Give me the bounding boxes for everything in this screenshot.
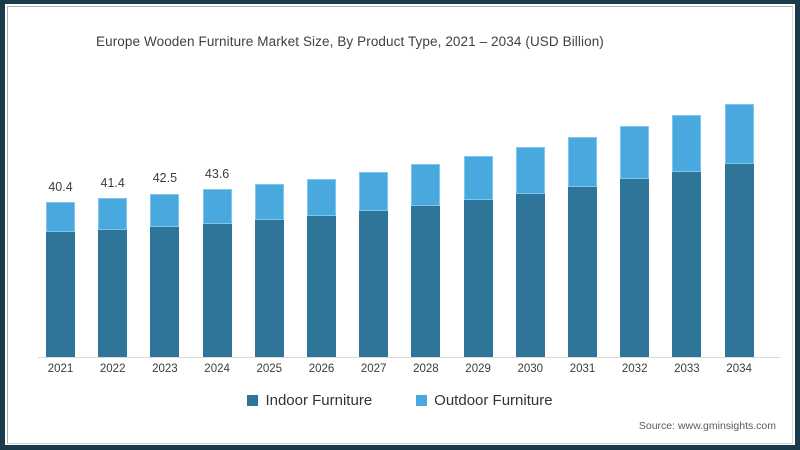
source-note: Source: www.gminsights.com xyxy=(639,420,776,432)
bar-segment-outdoor-2030[interactable] xyxy=(516,147,545,194)
frame-inner-line-bottom xyxy=(7,443,793,444)
x-tick-2031: 2031 xyxy=(553,363,613,375)
legend-item-indoor-furniture[interactable]: Indoor Furniture xyxy=(247,392,372,409)
legend-label-indoor: Indoor Furniture xyxy=(265,392,372,409)
bar-segment-outdoor-2034[interactable] xyxy=(725,104,754,164)
frame-border-right xyxy=(795,0,800,450)
frame-border-bottom xyxy=(0,445,800,450)
bar-value-label-2024: 43.6 xyxy=(187,167,247,181)
legend-swatch-icon-indoor xyxy=(247,395,258,406)
bar-segment-outdoor-2029[interactable] xyxy=(464,156,493,200)
bar-group-2025[interactable] xyxy=(255,184,284,357)
x-tick-2024: 2024 xyxy=(187,363,247,375)
x-tick-2021: 2021 xyxy=(31,363,91,375)
x-tick-2022: 2022 xyxy=(83,363,143,375)
bar-value-label-2023: 42.5 xyxy=(135,171,195,185)
bar-segment-outdoor-2031[interactable] xyxy=(568,137,597,187)
frame-inner-line-right xyxy=(792,6,793,444)
bar-segment-indoor-2026[interactable] xyxy=(307,216,336,357)
bar-segment-indoor-2028[interactable] xyxy=(411,206,440,357)
bar-segment-indoor-2033[interactable] xyxy=(672,172,701,357)
bar-segment-outdoor-2023[interactable] xyxy=(150,194,179,227)
bar-segment-outdoor-2026[interactable] xyxy=(307,179,336,216)
legend-label-outdoor: Outdoor Furniture xyxy=(434,392,552,409)
bar-segment-outdoor-2022[interactable] xyxy=(98,198,127,230)
bar-segment-indoor-2024[interactable] xyxy=(203,224,232,357)
x-tick-2033: 2033 xyxy=(657,363,717,375)
bar-group-2031[interactable] xyxy=(568,137,597,357)
bar-segment-outdoor-2032[interactable] xyxy=(620,126,649,179)
bar-group-2032[interactable] xyxy=(620,126,649,357)
x-tick-2025: 2025 xyxy=(239,363,299,375)
chart-legend: Indoor Furniture Outdoor Furniture xyxy=(0,392,800,409)
bar-value-label-2021: 40.4 xyxy=(31,180,91,194)
bar-group-2030[interactable] xyxy=(516,147,545,357)
legend-item-outdoor-furniture[interactable]: Outdoor Furniture xyxy=(416,392,552,409)
bar-segment-indoor-2025[interactable] xyxy=(255,220,284,357)
bar-segment-indoor-2023[interactable] xyxy=(150,227,179,357)
bar-segment-outdoor-2025[interactable] xyxy=(255,184,284,220)
bar-segment-indoor-2022[interactable] xyxy=(98,230,127,357)
bar-segment-indoor-2029[interactable] xyxy=(464,200,493,357)
frame-border-left xyxy=(0,0,5,450)
bar-segment-outdoor-2028[interactable] xyxy=(411,164,440,206)
bar-value-label-2022: 41.4 xyxy=(83,176,143,190)
bar-segment-indoor-2030[interactable] xyxy=(516,194,545,358)
x-tick-2029: 2029 xyxy=(448,363,508,375)
legend-swatch-icon-outdoor xyxy=(416,395,427,406)
plot-area xyxy=(38,80,778,357)
bar-group-2029[interactable] xyxy=(464,156,493,357)
bar-segment-indoor-2021[interactable] xyxy=(46,232,75,357)
x-axis-line xyxy=(38,357,780,358)
bar-group-2022[interactable] xyxy=(98,198,127,357)
bar-segment-outdoor-2021[interactable] xyxy=(46,202,75,233)
bar-segment-outdoor-2027[interactable] xyxy=(359,172,388,211)
bar-group-2023[interactable] xyxy=(150,194,179,358)
x-tick-2028: 2028 xyxy=(396,363,456,375)
bar-group-2033[interactable] xyxy=(672,115,701,357)
x-tick-2026: 2026 xyxy=(292,363,352,375)
bar-segment-indoor-2034[interactable] xyxy=(725,164,754,357)
chart-title: Europe Wooden Furniture Market Size, By … xyxy=(96,34,604,49)
bar-group-2021[interactable] xyxy=(46,202,75,357)
x-tick-2030: 2030 xyxy=(500,363,560,375)
bar-group-2028[interactable] xyxy=(411,164,440,357)
bar-group-2026[interactable] xyxy=(307,179,336,358)
bar-segment-indoor-2027[interactable] xyxy=(359,211,388,357)
chart-figure: Europe Wooden Furniture Market Size, By … xyxy=(0,0,800,450)
x-tick-2034: 2034 xyxy=(709,363,769,375)
bar-segment-outdoor-2033[interactable] xyxy=(672,115,701,172)
bar-group-2024[interactable] xyxy=(203,189,232,357)
x-tick-2032: 2032 xyxy=(605,363,665,375)
bar-group-2027[interactable] xyxy=(359,172,388,357)
frame-inner-line-top xyxy=(7,6,793,7)
frame-inner-line-left xyxy=(7,6,8,444)
bar-segment-indoor-2031[interactable] xyxy=(568,187,597,357)
bar-segment-outdoor-2024[interactable] xyxy=(203,189,232,223)
bar-group-2034[interactable] xyxy=(725,104,754,357)
x-tick-2023: 2023 xyxy=(135,363,195,375)
frame-border-top xyxy=(0,0,800,4)
bar-segment-indoor-2032[interactable] xyxy=(620,179,649,357)
x-tick-2027: 2027 xyxy=(344,363,404,375)
